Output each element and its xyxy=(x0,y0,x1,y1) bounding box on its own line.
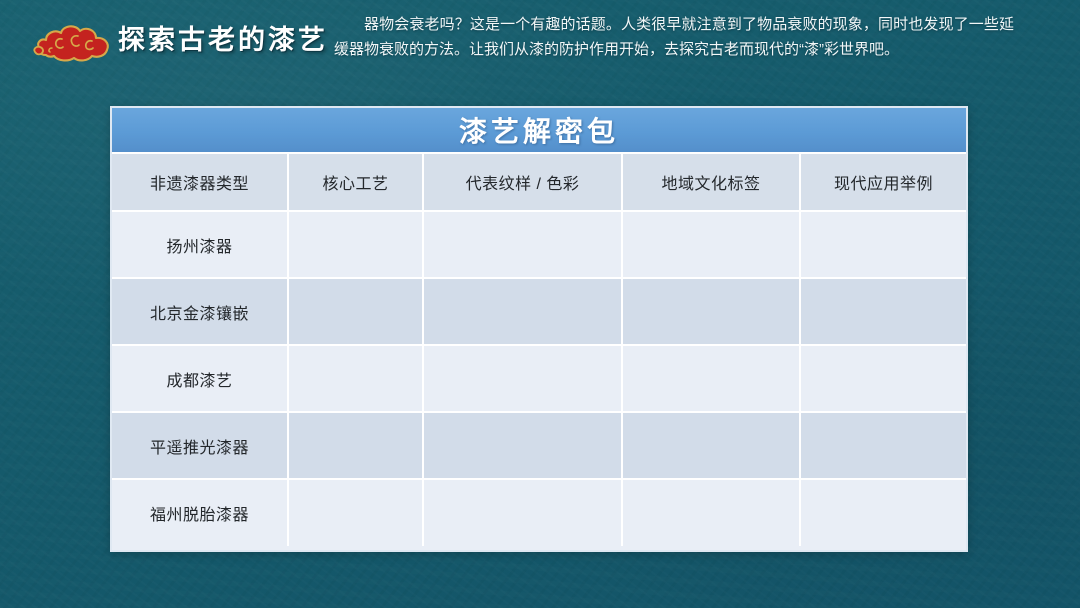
cell-pattern[interactable] xyxy=(423,479,622,546)
cell-craft[interactable] xyxy=(288,479,423,546)
cell-pattern[interactable] xyxy=(423,278,622,345)
cell-type[interactable]: 北京金漆镶嵌 xyxy=(112,278,288,345)
column-header-modern[interactable]: 现代应用举例 xyxy=(800,154,966,211)
column-header-region[interactable]: 地域文化标签 xyxy=(622,154,800,211)
cell-craft[interactable] xyxy=(288,278,423,345)
cell-region[interactable] xyxy=(622,345,800,412)
cell-modern[interactable] xyxy=(800,479,966,546)
cell-modern[interactable] xyxy=(800,345,966,412)
table-row: 平遥推光漆器 xyxy=(112,412,966,479)
cell-region[interactable] xyxy=(622,479,800,546)
cell-region[interactable] xyxy=(622,211,800,278)
cell-region[interactable] xyxy=(622,412,800,479)
chinese-auspicious-cloud-icon xyxy=(32,17,116,73)
slide-header: 探索古老的漆艺 器物会衰老吗？这是一个有趣的话题。人类很早就注意到了物品衰败的现… xyxy=(0,0,1080,96)
table-row: 扬州漆器 xyxy=(112,211,966,278)
cell-modern[interactable] xyxy=(800,211,966,278)
cell-region[interactable] xyxy=(622,278,800,345)
lacquer-table: 非遗漆器类型 核心工艺 代表纹样 / 色彩 地域文化标签 现代应用举例 扬州漆器… xyxy=(112,154,966,546)
table-title: 漆艺解密包 xyxy=(459,110,619,150)
slide-canvas: 探索古老的漆艺 器物会衰老吗？这是一个有趣的话题。人类很早就注意到了物品衰败的现… xyxy=(0,0,1080,608)
table-row: 福州脱胎漆器 xyxy=(112,479,966,546)
column-header-craft[interactable]: 核心工艺 xyxy=(288,154,423,211)
table-row: 成都漆艺 xyxy=(112,345,966,412)
column-header-type[interactable]: 非遗漆器类型 xyxy=(112,154,288,211)
cell-type[interactable]: 扬州漆器 xyxy=(112,211,288,278)
table-header-row: 非遗漆器类型 核心工艺 代表纹样 / 色彩 地域文化标签 现代应用举例 xyxy=(112,154,966,211)
cell-craft[interactable] xyxy=(288,345,423,412)
table-title-bar: 漆艺解密包 xyxy=(112,108,966,154)
table-head: 非遗漆器类型 核心工艺 代表纹样 / 色彩 地域文化标签 现代应用举例 xyxy=(112,154,966,211)
table-row: 北京金漆镶嵌 xyxy=(112,278,966,345)
column-header-pattern[interactable]: 代表纹样 / 色彩 xyxy=(423,154,622,211)
cell-craft[interactable] xyxy=(288,211,423,278)
cell-modern[interactable] xyxy=(800,412,966,479)
table-body: 扬州漆器 北京金漆镶嵌 成都漆艺 xyxy=(112,211,966,546)
cell-craft[interactable] xyxy=(288,412,423,479)
cell-pattern[interactable] xyxy=(423,345,622,412)
cell-pattern[interactable] xyxy=(423,211,622,278)
cell-modern[interactable] xyxy=(800,278,966,345)
page-title: 探索古老的漆艺 xyxy=(118,22,328,58)
cell-pattern[interactable] xyxy=(423,412,622,479)
cell-type[interactable]: 福州脱胎漆器 xyxy=(112,479,288,546)
intro-paragraph: 器物会衰老吗？这是一个有趣的话题。人类很早就注意到了物品衰败的现象，同时也发现了… xyxy=(334,12,1014,62)
cell-type[interactable]: 成都漆艺 xyxy=(112,345,288,412)
cell-type[interactable]: 平遥推光漆器 xyxy=(112,412,288,479)
lacquer-info-table-card: 漆艺解密包 非遗漆器类型 核心工艺 代表纹样 / 色彩 地域文化标签 现代应用举… xyxy=(110,106,968,552)
